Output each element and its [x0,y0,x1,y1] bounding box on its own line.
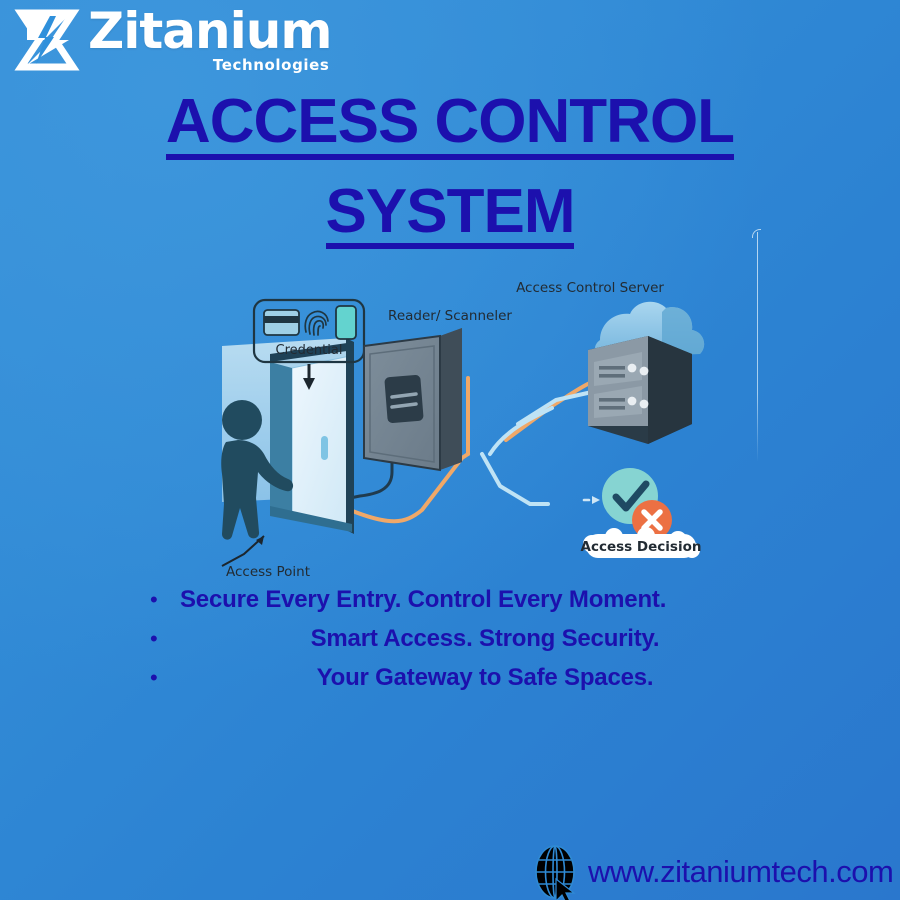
globe-cursor-icon [528,843,586,900]
access-control-diagram: Access Control Server [200,258,720,578]
tagline-item: • Your Gateway to Safe Spaces. [150,664,790,692]
tagline-item: • Secure Every Entry. Control Every Mome… [150,586,790,614]
card-icon [264,310,299,335]
brand-name: Zitanium [88,6,331,56]
tagline-item: • Smart Access. Strong Security. [150,625,790,653]
tagline-text: Smart Access. Strong Security. [180,625,790,653]
access-point-node: Access Point [221,338,354,578]
z-lightning-logo-icon [14,7,80,73]
access-decision-label: Access Decision [581,539,702,555]
tagline-list: • Secure Every Entry. Control Every Mome… [150,586,790,703]
reader-node: Reader/ Scanneler [364,308,512,470]
brand-logo[interactable]: Zitanium Technologies [14,6,331,73]
website-url[interactable]: www.zitaniumtech.com [588,854,893,890]
tagline-text: Your Gateway to Safe Spaces. [180,664,790,692]
brand-wordmark: Zitanium Technologies [88,6,331,73]
credential-label: Credential [276,343,343,358]
footer-website[interactable]: www.zitaniumtech.com [528,843,893,900]
hairline-artifact [757,232,758,462]
bullet-icon: • [150,628,180,650]
bullet-icon: • [150,667,180,689]
reader-label: Reader/ Scanneler [388,308,512,324]
page-title: ACCESS CONTROL SYSTEM [0,92,900,249]
brand-tagline: Technologies [213,58,330,73]
access-decision-badge: Access Decision [581,527,702,558]
server-node [588,302,704,444]
server-rack-icon [588,336,692,444]
access-point-label: Access Point [226,564,310,578]
page-title-line2: SYSTEM [326,182,575,250]
phone-icon [336,306,356,339]
bullet-icon: • [150,589,180,611]
poster-canvas: Zitanium Technologies ACCESS CONTROL SYS… [0,0,900,900]
server-label: Access Control Server [516,280,664,296]
tagline-text: Secure Every Entry. Control Every Moment… [180,586,790,614]
page-title-line1: ACCESS CONTROL [166,92,734,160]
fingerprint-icon [305,311,328,335]
access-decision-node: Access Decision [581,468,702,558]
